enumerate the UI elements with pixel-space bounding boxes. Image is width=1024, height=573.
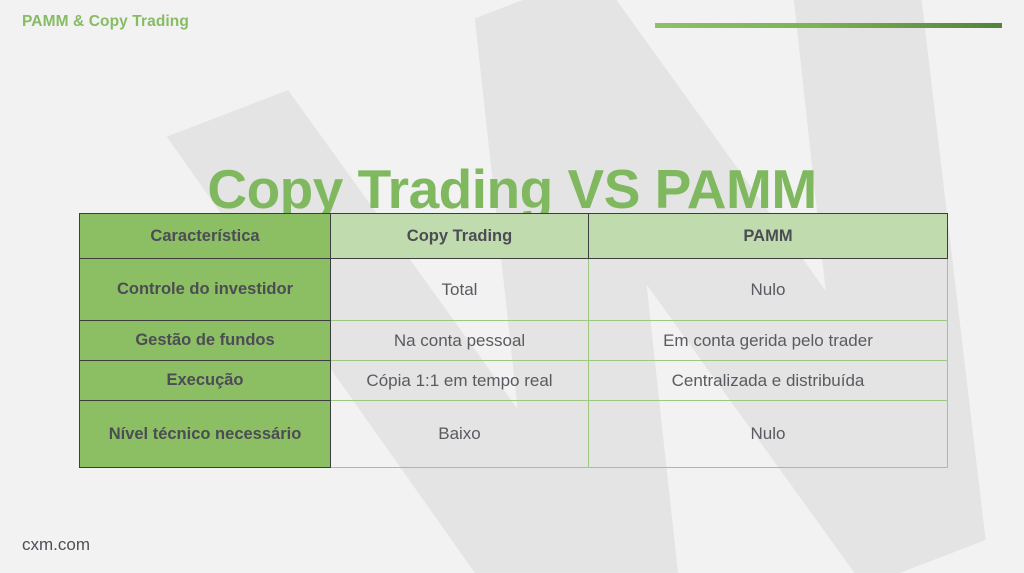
table-header-row: Característica Copy Trading PAMM [80,214,948,259]
cell-execucao-copy-trading: Cópia 1:1 em tempo real [331,361,589,401]
cell-nivel-copy-trading: Baixo [331,401,589,468]
comparison-table: Característica Copy Trading PAMM Control… [79,213,948,468]
row-header-gestao-de-fundos: Gestão de fundos [80,321,331,361]
column-header-copy-trading: Copy Trading [331,214,589,259]
table-row: Nível técnico necessário Baixo Nulo [80,401,948,468]
cell-controle-pamm: Nulo [589,259,948,321]
row-header-controle-do-investidor: Controle do investidor [80,259,331,321]
page-title: Copy Trading VS PAMM [0,161,1024,219]
brand-label: PAMM & Copy Trading [22,13,189,31]
cell-gestao-copy-trading: Na conta pessoal [331,321,589,361]
column-header-pamm: PAMM [589,214,948,259]
row-header-execucao: Execução [80,361,331,401]
cell-execucao-pamm: Centralizada e distribuída [589,361,948,401]
comparison-table-container: Característica Copy Trading PAMM Control… [79,213,947,468]
table-header: Característica Copy Trading PAMM [80,214,948,259]
table-row: Execução Cópia 1:1 em tempo real Central… [80,361,948,401]
column-header-feature: Característica [80,214,331,259]
site-footer: cxm.com [22,535,90,555]
table-body: Controle do investidor Total Nulo Gestão… [80,259,948,468]
table-row: Gestão de fundos Na conta pessoal Em con… [80,321,948,361]
accent-rule [655,23,1002,28]
cell-nivel-pamm: Nulo [589,401,948,468]
top-bar: PAMM & Copy Trading [0,0,1024,44]
cell-controle-copy-trading: Total [331,259,589,321]
row-header-nivel-tecnico-necessario: Nível técnico necessário [80,401,331,468]
cell-gestao-pamm: Em conta gerida pelo trader [589,321,948,361]
table-row: Controle do investidor Total Nulo [80,259,948,321]
